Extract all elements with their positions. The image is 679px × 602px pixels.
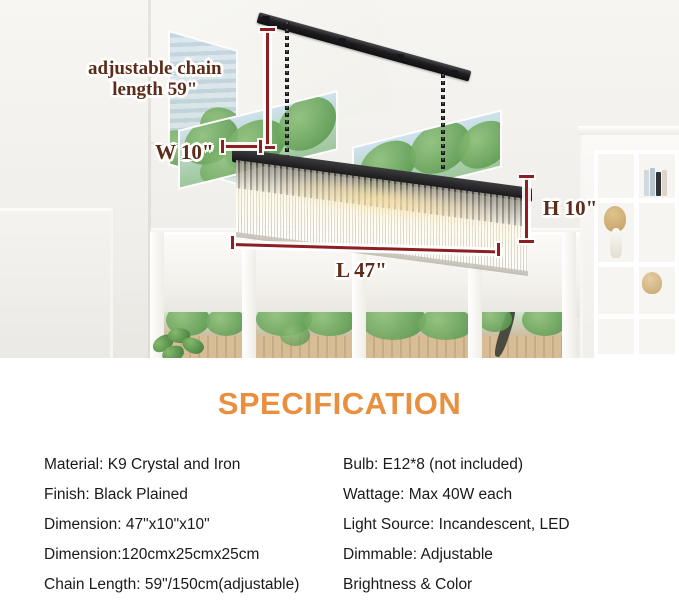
chain-label-line-2: length 59" — [88, 79, 222, 100]
product-photo: adjustable chain length 59" W 10" H 10" … — [0, 0, 679, 358]
specification-section: SPECIFICATION Material: K9 Crystal and I… — [0, 358, 679, 602]
chain-label-line-1: adjustable chain — [88, 58, 222, 79]
specification-left-column: Material: K9 Crystal and Iron Finish: Bl… — [0, 450, 335, 600]
chain-length-label: adjustable chain length 59" — [88, 58, 222, 100]
height-measure-cap-top — [519, 175, 534, 178]
specification-columns: Material: K9 Crystal and Iron Finish: Bl… — [0, 450, 679, 600]
chain-measure-line — [266, 30, 269, 148]
chandelier — [0, 0, 679, 358]
length-measure-cap-left — [231, 236, 234, 249]
width-measure-cap-right — [259, 140, 262, 153]
specification-right-column: Bulb: E12*8 (not included) Wattage: Max … — [335, 450, 679, 600]
mount-screw — [396, 54, 404, 60]
hanging-chain-left — [285, 22, 289, 156]
spec-row: Dimension: 47"x10"x10" — [44, 510, 335, 540]
chain-measure-cap-top — [260, 28, 275, 31]
spec-row: Light Source: Incandescent, LED — [343, 510, 679, 540]
spec-row: Dimension:120cmx25cmx25cm — [44, 540, 335, 570]
height-measure-line — [525, 176, 528, 242]
chain-measure-cap-bottom — [260, 146, 275, 149]
height-label: H 10" — [543, 196, 597, 221]
width-measure-line — [222, 145, 262, 148]
spec-row: Bulb: E12*8 (not included) — [343, 450, 679, 480]
length-label: L 47" — [336, 258, 387, 283]
mount-screw — [262, 16, 270, 22]
width-measure-cap-left — [221, 140, 224, 153]
spec-row: Wattage: Max 40W each — [343, 480, 679, 510]
spec-row: Dimmable: Adjustable — [343, 540, 679, 570]
mount-screw — [338, 38, 346, 44]
chandelier-body — [232, 148, 532, 243]
width-label: W 10" — [155, 140, 214, 165]
specification-title: SPECIFICATION — [0, 386, 679, 422]
height-measure-cap-bottom — [519, 240, 534, 243]
spec-row: Chain Length: 59"/150cm(adjustable) — [44, 570, 335, 600]
mount-screw — [450, 70, 458, 76]
spec-row: Brightness & Color — [343, 570, 679, 600]
length-measure-cap-right — [497, 243, 500, 256]
spec-row: Material: K9 Crystal and Iron — [44, 450, 335, 480]
spec-row: Finish: Black Plained — [44, 480, 335, 510]
product-spec-page: adjustable chain length 59" W 10" H 10" … — [0, 0, 679, 602]
